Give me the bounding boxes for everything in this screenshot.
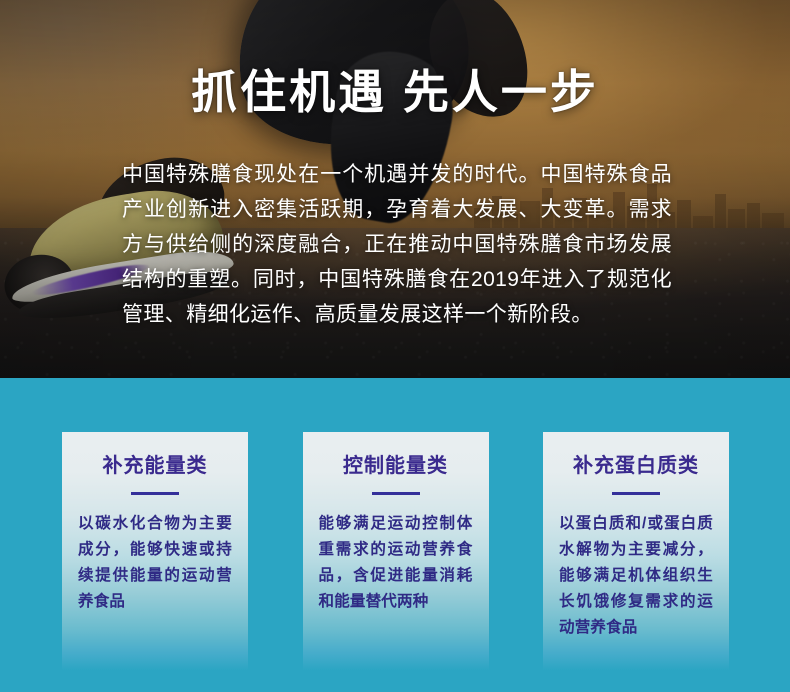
hero-copy: 抓住机遇 先人一步 中国特殊膳食现处在一个机遇并发的时代。中国特殊食品产业创新进… [0,0,790,378]
category-band: 补充能量类 以碳水化合物为主要成分，能够快速或持续提供能量的运动营养食品 控制能… [0,378,790,692]
category-card-title: 补充能量类 [62,432,248,478]
category-card-text: 以碳水化合物为主要成分，能够快速或持续提供能量的运动营养食品 [62,495,248,615]
category-card-text: 能够满足运动控制体重需求的运动营养食品，含促进能量消耗和能量替代两种 [303,495,489,615]
category-card-text: 以蛋白质和/或蛋白质水解物为主要减分，能够满足机体组织生长饥饿修复需求的运动营养… [543,495,729,641]
promo-page: 抓住机遇 先人一步 中国特殊膳食现处在一个机遇并发的时代。中国特殊食品产业创新进… [0,0,790,692]
category-card-list: 补充能量类 以碳水化合物为主要成分，能够快速或持续提供能量的运动营养食品 控制能… [62,432,729,692]
category-card-title: 补充蛋白质类 [543,432,729,478]
category-card[interactable]: 补充能量类 以碳水化合物为主要成分，能够快速或持续提供能量的运动营养食品 [62,432,248,678]
category-card[interactable]: 控制能量类 能够满足运动控制体重需求的运动营养食品，含促进能量消耗和能量替代两种 [303,432,489,678]
hero-paragraph: 中国特殊膳食现处在一个机遇并发的时代。中国特殊食品产业创新进入密集活跃期，孕育着… [122,157,672,332]
category-card-title: 控制能量类 [303,432,489,478]
hero-headline: 抓住机遇 先人一步 [0,65,790,119]
category-card[interactable]: 补充蛋白质类 以蛋白质和/或蛋白质水解物为主要减分，能够满足机体组织生长饥饿修复… [543,432,729,678]
hero-section: 抓住机遇 先人一步 中国特殊膳食现处在一个机遇并发的时代。中国特殊食品产业创新进… [0,0,790,378]
